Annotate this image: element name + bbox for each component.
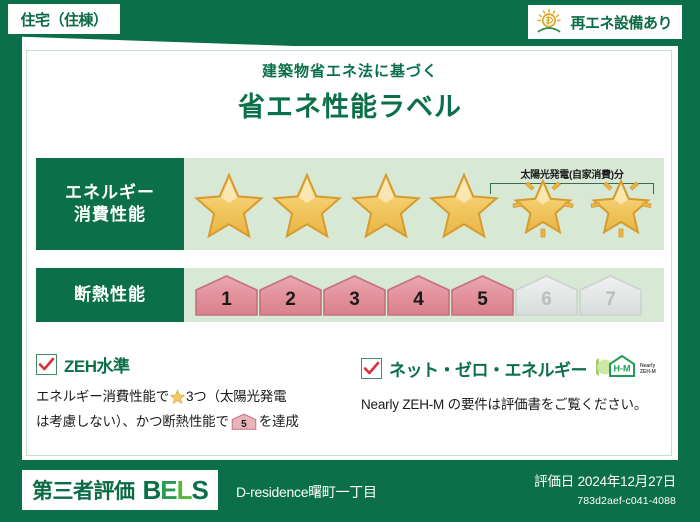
- note-title: ネット・ゼロ・エネルギー: [389, 356, 587, 381]
- evaluation-date: 評価日 2024年12月27日: [534, 470, 676, 490]
- bels-letter-s: S: [192, 475, 208, 505]
- insulation-grade-chip: 7: [578, 273, 643, 317]
- checkmark-icon: [361, 358, 382, 379]
- star-filled: [192, 167, 266, 241]
- footer: 第三者評価 BELS D-residence曙町一丁目 評価日 2024年12月…: [0, 460, 700, 522]
- note-body-star-count: 3つ（太陽光発電: [186, 389, 286, 404]
- energy-performance-row: エネルギー 消費性能 太陽光発電(自家消費)分: [36, 158, 664, 250]
- energy-performance-value-cell: 太陽光発電(自家消費)分: [184, 158, 664, 250]
- bels-logo: BELS: [143, 477, 208, 503]
- checkmark-icon: [36, 354, 57, 375]
- inline-house-icon: 5: [231, 413, 257, 430]
- star-filled: [270, 167, 344, 241]
- evaluation-id: 783d2aef-c041-4088: [534, 495, 676, 507]
- title-block: 建築物省エネ法に基づく 省エネ性能ラベル: [22, 60, 678, 124]
- renewable-badge-label: 再エネ設備あり: [570, 12, 672, 33]
- frame-right-border: [678, 34, 700, 522]
- bels-letter-b: B: [143, 475, 161, 505]
- insulation-grade-value: 3: [322, 289, 387, 311]
- insulation-grade-value: 4: [386, 289, 451, 311]
- note-body-part1: エネルギー消費性能で: [36, 389, 169, 404]
- third-party-evaluation-label: 第三者評価: [32, 475, 135, 505]
- note-body-part2: は考慮しない）、かつ断熱性能で: [36, 414, 229, 429]
- note-zeh-standard: ZEH水準 エネルギー消費性能で3つ（太陽光発電は考慮しない）、かつ断熱性能で5…: [36, 352, 339, 433]
- house-type-label: 住宅（住棟）: [20, 9, 107, 30]
- building-name: D-residence曙町一丁目: [236, 482, 377, 502]
- svg-text:ZEH-M: ZEH-M: [640, 369, 656, 375]
- frame-left-border: [0, 34, 22, 522]
- insulation-grade-chip: 4: [386, 273, 451, 317]
- star-solar-sparkle: [584, 167, 658, 241]
- page-title: 省エネ性能ラベル: [22, 85, 678, 124]
- note-title: ZEH水準: [64, 352, 130, 377]
- energy-performance-label-cell: エネルギー 消費性能: [36, 158, 184, 250]
- insulation-grade-chip-achieved: 5: [450, 273, 515, 317]
- insulation-grade-value: 5: [450, 289, 515, 311]
- svg-text:H-M: H-M: [614, 364, 631, 374]
- title-subtitle: 建築物省エネ法に基づく: [22, 60, 678, 81]
- star-filled: [427, 167, 501, 241]
- energy-label-line1: エネルギー: [65, 182, 155, 204]
- solar-sun-icon: [534, 8, 564, 36]
- note-net-zero-energy: ネット・ゼロ・エネルギー H-M Nearly ZEH-M Nearly ZEH…: [361, 352, 664, 433]
- insulation-performance-row: 断熱性能 1: [36, 268, 664, 322]
- note-body: Nearly ZEH-M の要件は評価書をご覧ください。: [361, 394, 664, 416]
- insulation-grade-value: 1: [194, 289, 259, 311]
- star-solar-sparkle: [506, 167, 580, 241]
- insulation-grade-chip: 3: [322, 273, 387, 317]
- insulation-grade-value: 2: [258, 289, 323, 311]
- bels-certification-plate: 第三者評価 BELS: [22, 470, 218, 510]
- insulation-grade-value: 7: [578, 289, 643, 311]
- bels-letter-l: L: [177, 475, 192, 505]
- insulation-grade-value: 6: [514, 289, 579, 311]
- note-header: ネット・ゼロ・エネルギー H-M Nearly ZEH-M: [361, 352, 664, 385]
- inline-house-grade: 5: [231, 417, 257, 433]
- note-body: エネルギー消費性能で3つ（太陽光発電は考慮しない）、かつ断熱性能で5を達成: [36, 386, 339, 433]
- insulation-performance-label-cell: 断熱性能: [36, 268, 184, 322]
- star-rating: [192, 158, 658, 250]
- inline-star-icon: [170, 392, 185, 407]
- insulation-grade-chip: 2: [258, 273, 323, 317]
- insulation-grade-chip: 6: [514, 273, 579, 317]
- insulation-grade-scale: 1 2 3 4: [194, 268, 656, 322]
- insulation-grade-chip: 1: [194, 273, 259, 317]
- note-body-part3: を達成: [259, 414, 299, 429]
- notes-section: ZEH水準 エネルギー消費性能で3つ（太陽光発電は考慮しない）、かつ断熱性能で5…: [36, 352, 664, 433]
- star-filled: [349, 167, 423, 241]
- energy-performance-label: 住宅（住棟） 再エネ設備あり 建築物省エネ法に基づく: [0, 0, 700, 522]
- house-type-tab: 住宅（住棟）: [8, 4, 120, 34]
- evaluation-info: 評価日 2024年12月27日 783d2aef-c041-4088: [534, 470, 676, 507]
- energy-label-line2: 消費性能: [74, 204, 146, 226]
- zeh-m-logo-icon: H-M Nearly ZEH-M: [596, 352, 656, 385]
- insulation-label-line1: 断熱性能: [74, 284, 146, 306]
- bels-letter-e: E: [160, 475, 176, 505]
- renewable-equipment-badge: 再エネ設備あり: [528, 5, 682, 39]
- insulation-performance-value-cell: 1 2 3 4: [184, 268, 664, 322]
- note-header: ZEH水準: [36, 352, 339, 377]
